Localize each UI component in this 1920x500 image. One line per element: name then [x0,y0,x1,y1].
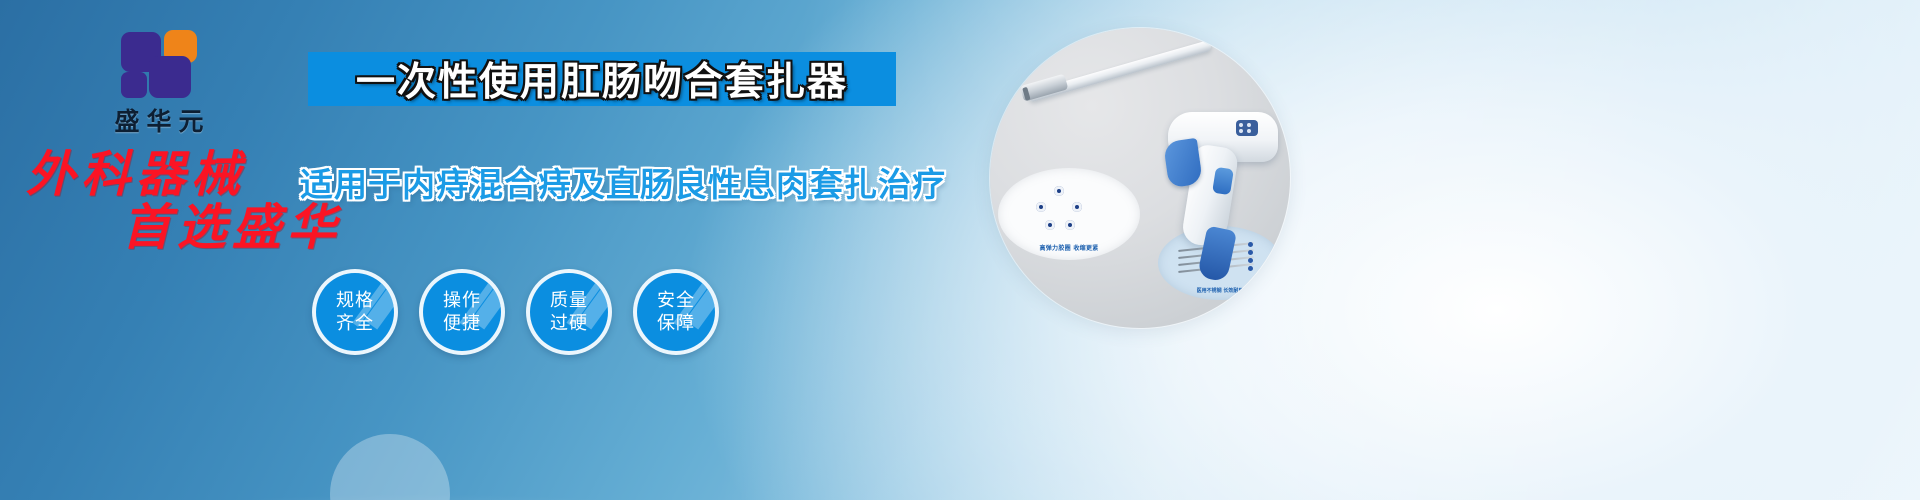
page-title: 一次性使用肛肠吻合套扎器 [356,51,848,107]
headline-bar: 一次性使用肛肠吻合套扎器 [308,52,896,106]
slogan-line-2: 首选盛华 [122,201,374,254]
brand-logo[interactable]: 盛华元 [64,28,254,138]
feature-badge-4[interactable]: 安全 保障 [633,269,719,355]
feature-badge-2[interactable]: 操作 便捷 [419,269,505,355]
badge-2-line-1: 操作 [443,289,481,312]
badge-3-line-2: 过硬 [550,312,588,335]
badge-4-line-1: 安全 [657,289,695,312]
decorative-circle [330,434,450,500]
badge-1-line-2: 齐全 [336,312,374,335]
badge-3-line-1: 质量 [550,289,588,312]
bottom-glow [0,320,1920,500]
logo-wordmark: 盛华元 [64,102,254,138]
feature-badge-1[interactable]: 规格 齐全 [312,269,398,355]
logo-square-bottom-left [121,72,147,98]
feature-badge-3[interactable]: 质量 过硬 [526,269,612,355]
feature-badge-list: 规格 齐全 操作 便捷 质量 过硬 安全 保障 [312,269,719,355]
badge-2-line-2: 便捷 [443,312,481,335]
badge-1-line-1: 规格 [336,289,374,312]
product-photo: 高弹力胶圈 收缩更紧 医用不锈钢 长效耐用 [990,28,1290,328]
ligation-device-illustration [990,28,1290,328]
subtitle-text: 适用于内痔混合痔及直肠良性息肉套扎治疗 [300,158,920,206]
logo-square-bottom-right [149,56,191,98]
promo-banner: 盛华元 外科器械 首选盛华 一次性使用肛肠吻合套扎器 适用于内痔混合痔及直肠良性… [0,0,1920,500]
device-shaft-icon [1026,40,1212,103]
badge-4-line-2: 保障 [657,312,695,335]
device-control-panel-icon [1236,120,1258,136]
logo-mark-icon [115,28,203,98]
